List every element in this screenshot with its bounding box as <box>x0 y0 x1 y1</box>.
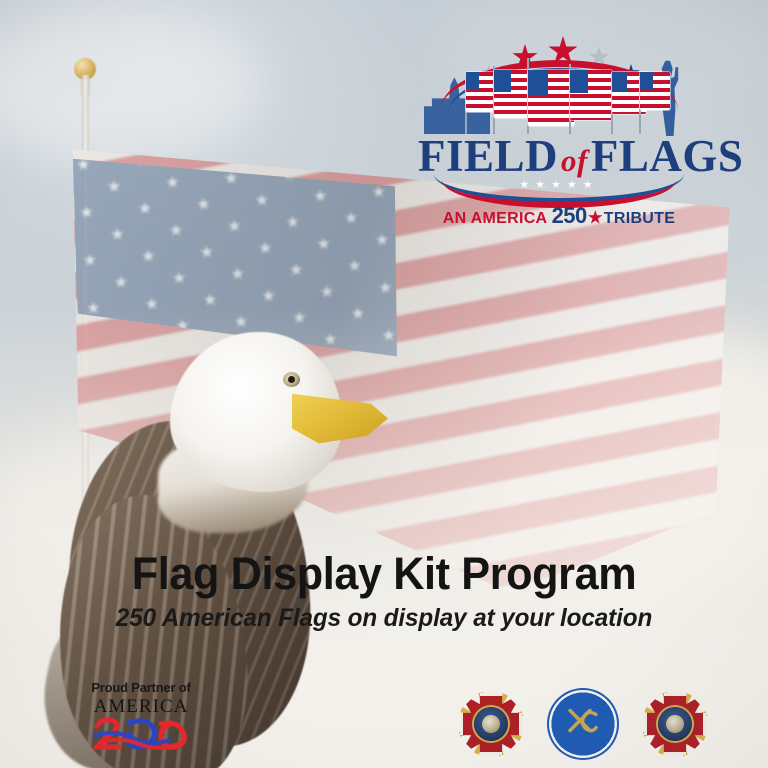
logo-flag-row <box>418 30 700 142</box>
tagline-prefix: AN AMERICA <box>443 210 547 227</box>
tagline-suffix: TRIBUTE <box>604 210 675 227</box>
partner-tagline: Proud Partner of <box>86 680 196 695</box>
tagline-number: 250 <box>552 203 587 228</box>
vfw-emblem-art <box>455 688 527 760</box>
logo-underline-stars: ★★★★★ <box>418 178 700 191</box>
logo-flag-union <box>570 70 588 93</box>
logo-word-of: of <box>558 143 591 178</box>
logo-flag-icon <box>528 70 574 126</box>
logo-wordmark: FIELDofFLAGS <box>418 134 700 179</box>
logo-flag-union <box>494 70 511 92</box>
eagle-seal-icon <box>482 715 500 733</box>
logo-flag-icon <box>570 70 612 120</box>
tagline-star-icon <box>588 210 603 225</box>
page-subtitle: 250 American Flags on display at your lo… <box>12 604 757 633</box>
poster-canvas: FIELDofFLAGS ★★★★★ AN AMERICA 250TRIBUTE… <box>0 0 768 768</box>
logo-flag-union <box>612 72 627 91</box>
vfw-auxiliary-cross-emblem[interactable] <box>639 688 711 760</box>
logo-flag-union <box>528 70 548 96</box>
exchange-club-monogram <box>566 706 600 743</box>
logo-flag-icon <box>466 72 496 112</box>
america-250-logo-icon <box>89 714 193 752</box>
vfw-auxiliary-emblem-art <box>639 688 711 760</box>
field-of-flags-logo[interactable]: FIELDofFLAGS ★★★★★ AN AMERICA 250TRIBUTE <box>418 30 700 225</box>
page-title: Flag Display Kit Program <box>15 548 752 600</box>
logo-tagline: AN AMERICA 250TRIBUTE <box>418 203 700 229</box>
partner-emblem-row: UNITY FOR SERVICE NATIONAL EXCHANGE CLUB <box>455 688 710 764</box>
logo-flag-icon <box>640 72 670 110</box>
exchange-club-roundel: UNITY FOR SERVICE NATIONAL EXCHANGE CLUB <box>547 688 619 760</box>
vfw-cross-emblem[interactable] <box>455 688 527 760</box>
xc-monogram-icon <box>566 706 600 736</box>
logo-flag-union <box>640 72 653 89</box>
proud-partner-badge: Proud Partner of AMERICA <box>86 680 196 750</box>
logo-flag-union <box>466 72 479 90</box>
national-exchange-club-emblem[interactable]: UNITY FOR SERVICE NATIONAL EXCHANGE CLUB <box>547 688 619 760</box>
partner-250-mark <box>86 714 196 750</box>
eagle-seal-icon <box>666 715 684 733</box>
